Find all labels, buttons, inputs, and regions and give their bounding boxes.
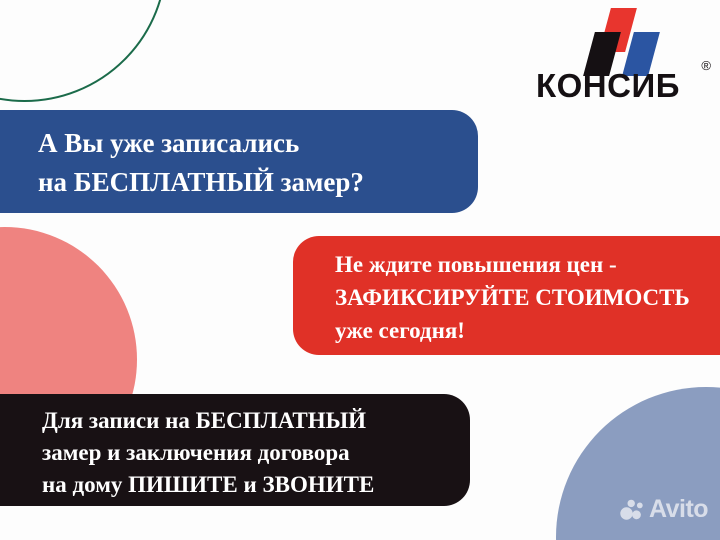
avito-wordmark: Avito xyxy=(649,497,708,522)
banner-black-contact-call-to-action: Для записи на БЕСПЛАТНЫЙ замер и заключе… xyxy=(0,394,470,506)
konsib-logo: ® КОНСИБ xyxy=(533,6,713,108)
banner-blue-question: А Вы уже записались на БЕСПЛАТНЫЙ замер? xyxy=(0,110,478,213)
logo-wordmark: КОНСИБ xyxy=(533,68,713,104)
banner-black-line-1: Для записи на БЕСПЛАТНЫЙ xyxy=(42,405,470,437)
advertisement-image: ® КОНСИБ А Вы уже записались на БЕСПЛАТН… xyxy=(0,0,720,540)
banner-black-line-2: замер и заключения договора xyxy=(42,437,470,469)
avito-watermark: Avito xyxy=(620,497,708,522)
banner-red-price-offer: Не ждите повышения цен - ЗАФИКСИРУЙТЕ СТ… xyxy=(293,236,720,355)
banner-red-line-1: Не ждите повышения цен - xyxy=(335,248,720,281)
banner-blue-line-2: на БЕСПЛАТНЫЙ замер? xyxy=(38,163,478,202)
banner-black-line-3: на дому ПИШИТЕ и ЗВОНИТЕ xyxy=(42,469,470,501)
green-ring-shape xyxy=(0,0,167,102)
banner-red-line-2: ЗАФИКСИРУЙТЕ СТОИМОСТЬ xyxy=(335,281,720,314)
banner-blue-line-1: А Вы уже записались xyxy=(38,124,478,163)
logo-mark-group: ® xyxy=(533,6,713,68)
avito-dots-icon xyxy=(620,499,644,521)
banner-red-line-3: уже сегодня! xyxy=(335,314,720,347)
